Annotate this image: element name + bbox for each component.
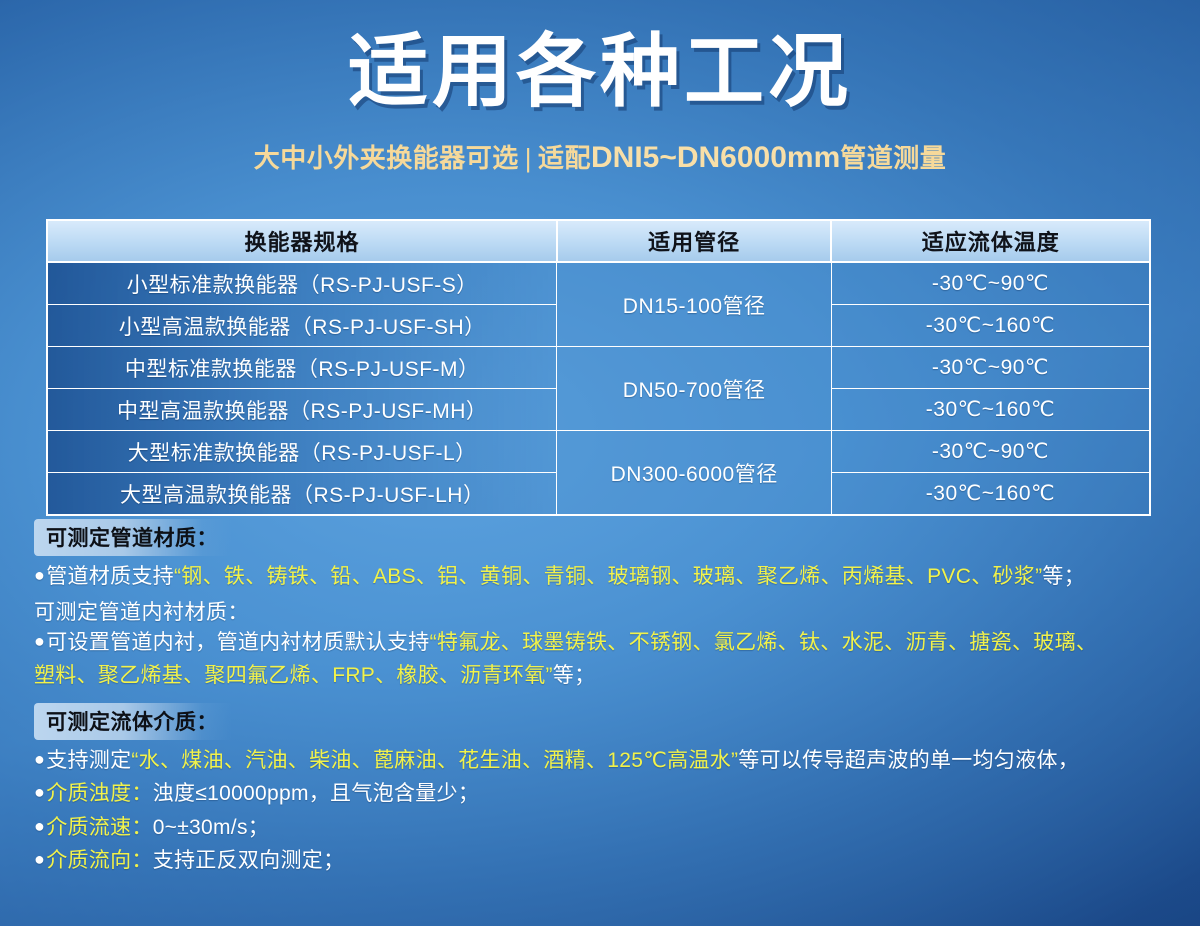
hero-subtitle: 大中小外夹换能器可选|适配DNI5~DN6000mm管道测量 bbox=[0, 138, 1200, 175]
lining-material-quote-1: “特氟龙、球墨铸铁、不锈钢、氯乙烯、钛、水泥、沥青、搪瓷、玻璃、 bbox=[430, 631, 1098, 654]
cell-transducer-name: 中型高温款换能器（RS-PJ-USF-MH） bbox=[47, 389, 557, 431]
media-velocity-label: 介质流速： bbox=[46, 816, 153, 839]
lining-material-suffix: 等； bbox=[553, 664, 596, 687]
page-title: 适用各种工况 bbox=[0, 22, 1200, 114]
bullet-icon: ● bbox=[34, 631, 46, 651]
bullet-icon: ● bbox=[34, 782, 46, 802]
bullet-icon: ● bbox=[34, 849, 46, 869]
cell-temperature: -30℃~90℃ bbox=[831, 347, 1150, 389]
media-turbidity-label: 介质浊度： bbox=[46, 782, 153, 805]
hero-section: 适用各种工况 大中小外夹换能器可选|适配DNI5~DN6000mm管道测量 bbox=[0, 0, 1200, 175]
fluid-media-prefix: 支持测定 bbox=[46, 749, 131, 772]
subtitle-divider: | bbox=[519, 143, 538, 173]
cell-pipe-diameter: DN15-100管径 bbox=[557, 262, 831, 347]
media-turbidity-value: 浊度≤10000ppm，且气泡含量少； bbox=[153, 782, 479, 805]
cell-temperature: -30℃~90℃ bbox=[831, 262, 1150, 305]
subtitle-mid: 适配 bbox=[538, 143, 591, 173]
cell-transducer-name: 小型高温款换能器（RS-PJ-USF-SH） bbox=[47, 305, 557, 347]
spec-table: 换能器规格 适用管径 适应流体温度 小型标准款换能器（RS-PJ-USF-S） … bbox=[46, 219, 1151, 516]
fluid-media-line: ●支持测定“水、煤油、汽油、柴油、蓖麻油、花生油、酒精、125℃高温水”等可以传… bbox=[34, 745, 1174, 778]
lining-material-line-2: 塑料、聚乙烯基、聚四氟乙烯、FRP、橡胶、沥青环氧”等； bbox=[34, 660, 1174, 693]
subtitle-tail: 管道测量 bbox=[840, 143, 946, 173]
cell-pipe-diameter: DN50-700管径 bbox=[557, 347, 831, 431]
cell-transducer-name: 小型标准款换能器（RS-PJ-USF-S） bbox=[47, 262, 557, 305]
cell-temperature: -30℃~160℃ bbox=[831, 389, 1150, 431]
badge-fluid-media: 可测定流体介质： bbox=[34, 703, 232, 740]
content-section: 可测定管道材质： ●管道材质支持“钢、铁、铸铁、铅、ABS、铝、黄铜、青铜、玻璃… bbox=[34, 519, 1174, 879]
table-row: 中型标准款换能器（RS-PJ-USF-M） DN50-700管径 -30℃~90… bbox=[47, 347, 1150, 389]
column-header-fluid-temperature: 适应流体温度 bbox=[831, 220, 1150, 262]
media-direction-label: 介质流向： bbox=[46, 849, 153, 872]
fluid-media-suffix: 等可以传导超声波的单一均匀液体， bbox=[738, 749, 1079, 772]
cell-temperature: -30℃~160℃ bbox=[831, 473, 1150, 516]
bullet-icon: ● bbox=[34, 816, 46, 836]
media-velocity-value: 0~±30m/s； bbox=[153, 816, 269, 839]
lining-material-prefix: 可设置管道内衬，管道内衬材质默认支持 bbox=[46, 631, 429, 654]
table-row: 小型标准款换能器（RS-PJ-USF-S） DN15-100管径 -30℃~90… bbox=[47, 262, 1150, 305]
media-direction-line: ●介质流向：支持正反双向测定； bbox=[34, 845, 1174, 878]
lining-material-quote-2: 塑料、聚乙烯基、聚四氟乙烯、FRP、橡胶、沥青环氧” bbox=[34, 664, 553, 687]
cell-temperature: -30℃~90℃ bbox=[831, 431, 1150, 473]
pipe-material-quote: “钢、铁、铸铁、铅、ABS、铝、黄铜、青铜、玻璃钢、玻璃、聚乙烯、丙烯基、PVC… bbox=[174, 565, 1042, 588]
poster-page: 适用各种工况 大中小外夹换能器可选|适配DNI5~DN6000mm管道测量 换能… bbox=[0, 0, 1200, 926]
cell-transducer-name: 大型标准款换能器（RS-PJ-USF-L） bbox=[47, 431, 557, 473]
cell-pipe-diameter: DN300-6000管径 bbox=[557, 431, 831, 516]
cell-transducer-name: 大型高温款换能器（RS-PJ-USF-LH） bbox=[47, 473, 557, 516]
pipe-material-prefix: 管道材质支持 bbox=[46, 565, 174, 588]
cell-transducer-name: 中型标准款换能器（RS-PJ-USF-M） bbox=[47, 347, 557, 389]
media-turbidity-line: ●介质浊度：浊度≤10000ppm，且气泡含量少； bbox=[34, 778, 1174, 811]
media-direction-value: 支持正反双向测定； bbox=[153, 849, 345, 872]
fluid-media-quote: “水、煤油、汽油、柴油、蓖麻油、花生油、酒精、125℃高温水” bbox=[131, 749, 738, 772]
subtitle-lead: 大中小外夹换能器可选 bbox=[254, 143, 519, 173]
media-velocity-line: ●介质流速：0~±30m/s； bbox=[34, 812, 1174, 845]
column-header-pipe-diameter: 适用管径 bbox=[557, 220, 831, 262]
heading-lining-material: 可测定管道内衬材质： bbox=[34, 596, 1174, 626]
table-header-row: 换能器规格 适用管径 适应流体温度 bbox=[47, 220, 1150, 262]
pipe-material-line: ●管道材质支持“钢、铁、铸铁、铅、ABS、铝、黄铜、青铜、玻璃钢、玻璃、聚乙烯、… bbox=[34, 561, 1174, 594]
bullet-icon: ● bbox=[34, 749, 46, 769]
table-row: 大型标准款换能器（RS-PJ-USF-L） DN300-6000管径 -30℃~… bbox=[47, 431, 1150, 473]
column-header-transducer-spec: 换能器规格 bbox=[47, 220, 557, 262]
bullet-icon: ● bbox=[34, 565, 46, 585]
spec-table-wrapper: 换能器规格 适用管径 适应流体温度 小型标准款换能器（RS-PJ-USF-S） … bbox=[46, 219, 1151, 516]
badge-pipe-material: 可测定管道材质： bbox=[34, 519, 232, 556]
pipe-material-suffix: 等； bbox=[1042, 565, 1085, 588]
cell-temperature: -30℃~160℃ bbox=[831, 305, 1150, 347]
subtitle-accent: DNI5~DN6000mm bbox=[591, 141, 840, 174]
lining-material-line-1: ●可设置管道内衬，管道内衬材质默认支持“特氟龙、球墨铸铁、不锈钢、氯乙烯、钛、水… bbox=[34, 627, 1174, 660]
